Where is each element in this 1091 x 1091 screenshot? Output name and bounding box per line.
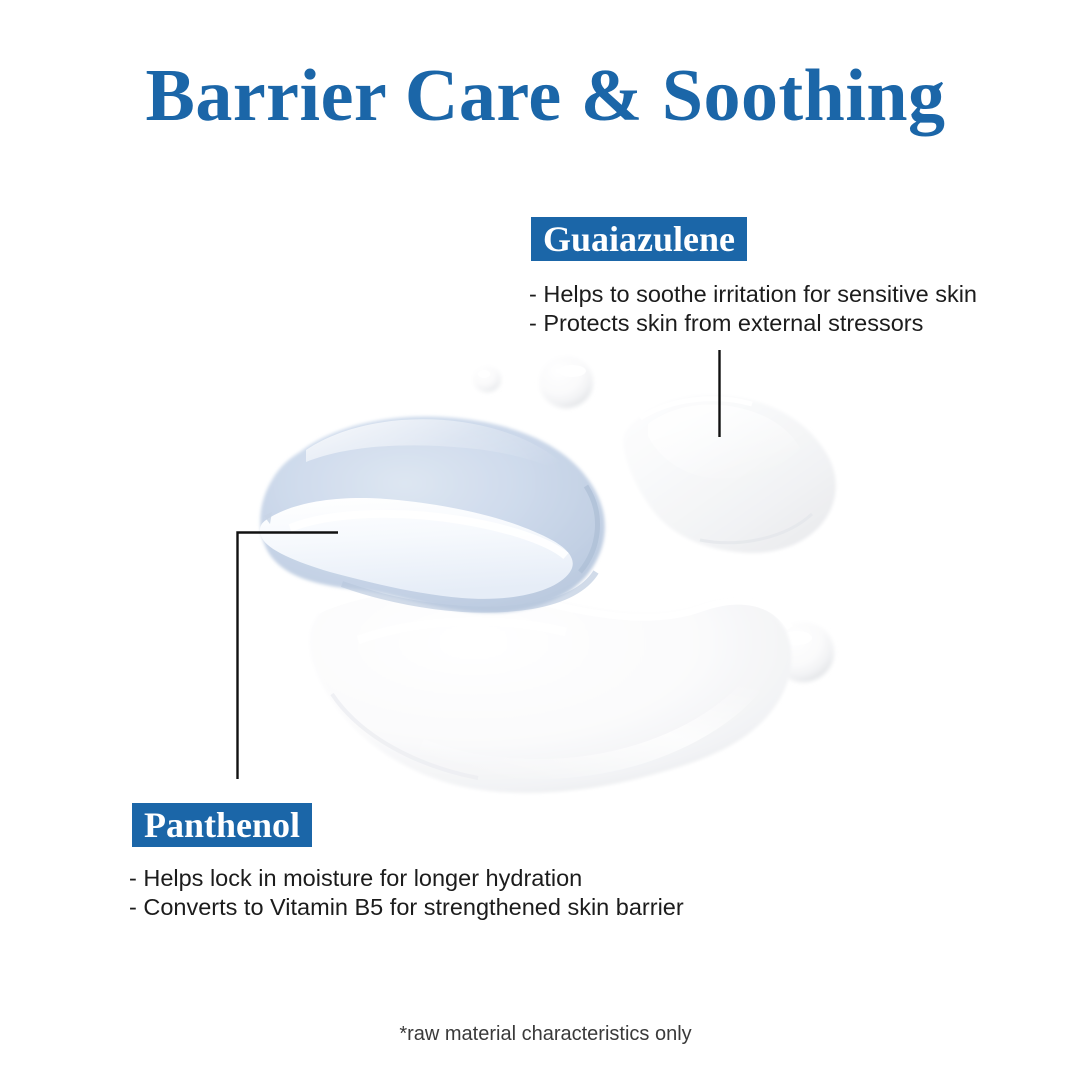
page-title: Barrier Care & Soothing — [0, 58, 1091, 136]
infographic-poster: Barrier Care & Soothing — [0, 0, 1091, 1091]
bullet-item: - Helps lock in moisture for longer hydr… — [129, 864, 684, 893]
droplet-right — [772, 622, 834, 682]
white-cream-swatch — [309, 583, 791, 793]
callout-label-panthenol: Panthenol — [132, 803, 312, 847]
bullet-item: - Protects skin from external stressors — [529, 309, 977, 338]
callout-label-guaiazulene: Guaiazulene — [531, 217, 747, 261]
product-texture-artwork — [0, 0, 1091, 1091]
callout-bullets-panthenol: - Helps lock in moisture for longer hydr… — [129, 864, 684, 922]
callout-bullets-guaiazulene: - Helps to soothe irritation for sensiti… — [529, 280, 977, 338]
droplet-medium-top — [539, 356, 593, 408]
footnote-disclaimer: *raw material characteristics only — [0, 1023, 1091, 1046]
bullet-item: - Converts to Vitamin B5 for strengthene… — [129, 893, 684, 922]
leader-line-panthenol — [238, 533, 339, 780]
droplet-small-left — [473, 366, 501, 392]
clear-gel-swatch — [623, 395, 836, 553]
bullet-item: - Helps to soothe irritation for sensiti… — [529, 280, 977, 309]
blue-cream-swatch — [260, 416, 605, 612]
